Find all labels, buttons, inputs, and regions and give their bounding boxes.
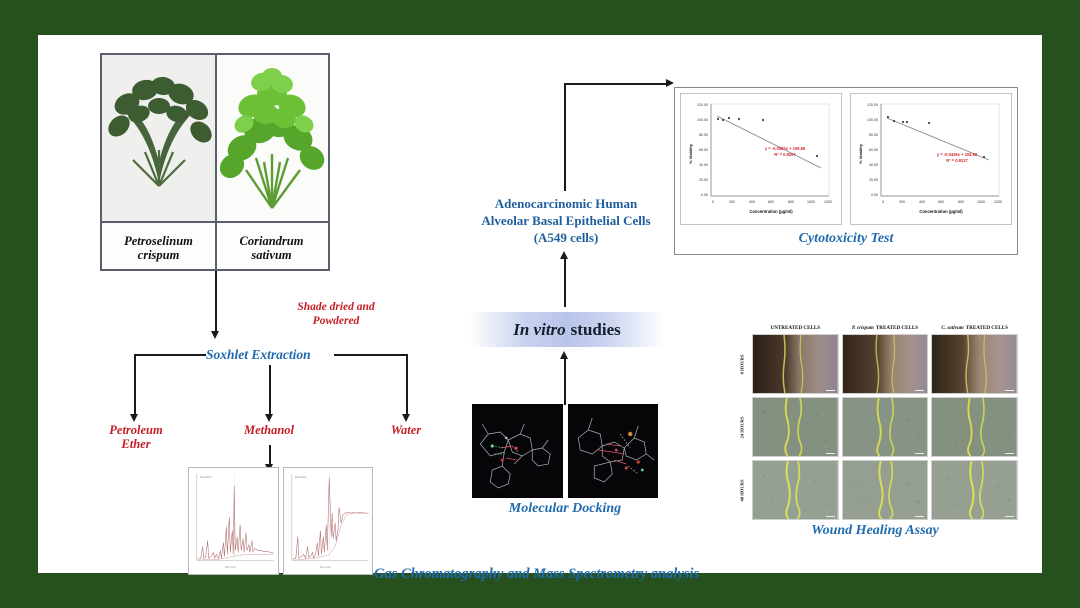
molecular-docking-panel — [472, 404, 658, 498]
docking-image-2 — [568, 404, 659, 498]
scalebar — [1005, 453, 1014, 454]
arrow-shaft-shade-dried — [215, 271, 217, 333]
scalebar — [915, 390, 924, 391]
chromatogram-1-trace: Abundance Time (min) — [189, 468, 278, 574]
svg-text:800: 800 — [958, 200, 964, 204]
coriander-illustration — [216, 62, 328, 214]
coriandrum-genus: Coriandrum — [240, 234, 304, 248]
arrowhead-water — [402, 414, 410, 422]
arrowhead-shade-dried — [211, 331, 219, 339]
petroselinum-species: crispum — [138, 248, 180, 262]
petroselinum-genus: Petroselinum — [124, 234, 193, 248]
svg-text:Abundance: Abundance — [200, 476, 213, 479]
scalebar — [826, 516, 835, 517]
svg-text:60.00: 60.00 — [699, 148, 708, 152]
arrowhead-methanol — [265, 414, 273, 422]
scalebar — [826, 453, 835, 454]
label-solvent-water: Water — [364, 423, 448, 437]
wound-healing-panel: UNTREATED CELLS P. crispum TREATED CELLS… — [732, 321, 1018, 541]
wh-rowlabel-0h: 0 HOURS — [732, 334, 752, 394]
wh-cell-24h-csativum — [931, 397, 1018, 457]
docking-structure-1 — [472, 404, 563, 498]
cytotoxicity-chart-petroselinum: 120.00 100.00 80.00 60.00 40.00 20.00 0.… — [680, 93, 842, 225]
plant-name-petroselinum: Petroselinum crispum — [102, 223, 215, 273]
wh-rowlabel-48h: 48 HOURS — [732, 460, 752, 520]
svg-text:1200: 1200 — [994, 200, 1002, 204]
scalebar — [915, 453, 924, 454]
scalebar — [1005, 390, 1014, 391]
svg-text:% Viability: % Viability — [858, 143, 863, 164]
svg-text:800: 800 — [788, 200, 794, 204]
svg-text:Concentration (µg/ml): Concentration (µg/ml) — [919, 209, 963, 214]
soxhlet-branch-right — [334, 354, 406, 356]
parsley-illustration — [105, 66, 213, 216]
label-shade-dried: Shade dried and Powdered — [276, 301, 396, 328]
arrowhead-to-cytotoxicity — [666, 79, 674, 87]
in-vitro-italic: In vitro — [513, 320, 565, 340]
chromatogram-2-trace: Abundance Time (min) — [284, 468, 373, 574]
docking-image-1 — [472, 404, 563, 498]
petroleum-line2: Ether — [121, 437, 150, 451]
svg-text:80.00: 80.00 — [699, 133, 708, 137]
arrow-shaft-docking-to-invitro — [564, 357, 566, 405]
svg-text:1000: 1000 — [977, 200, 985, 204]
svg-text:Abundance: Abundance — [294, 476, 307, 479]
svg-text:Concentration (µg/ml): Concentration (µg/ml) — [749, 209, 793, 214]
plant-name-coriandrum: Coriandrum sativum — [215, 223, 328, 273]
caption-gcms: Gas Chromatography and Mass Spectrometry… — [374, 566, 699, 583]
banner-in-vitro-studies: In vitro studies — [470, 312, 664, 347]
a549-line2: Alveolar Basal Epithelial Cells — [481, 213, 650, 228]
petroselinum-photo — [102, 55, 215, 221]
cyto-eqn-1: y = -0.0392x + 109.66 — [765, 146, 806, 151]
plant-source-box: Petroselinum crispum Coriandrum sativum — [100, 53, 330, 271]
wh-cell-48h-csativum — [931, 460, 1018, 520]
a549-line1: Adenocarcinomic Human — [495, 196, 637, 211]
wh-cell-0h-csativum — [931, 334, 1018, 394]
scalebar — [915, 516, 924, 517]
svg-text:400: 400 — [749, 200, 755, 204]
caption-molecular-docking: Molecular Docking — [472, 501, 658, 517]
wh-header-csativum-italic: C. sativum — [941, 325, 963, 331]
coriandrum-species: sativum — [251, 248, 291, 262]
methanol-line1: Methanol — [244, 423, 294, 437]
wh-header-untreated-label: UNTREATED CELLS — [771, 325, 821, 331]
svg-text:40.00: 40.00 — [699, 163, 708, 167]
svg-text:60.00: 60.00 — [869, 148, 878, 152]
cyto-r2-1: R² = 0.8297 — [774, 152, 796, 157]
wh-header-csativum: C. sativum TREATED CELLS — [931, 321, 1018, 334]
branch-shaft-petroleum — [134, 354, 136, 416]
svg-text:20.00: 20.00 — [699, 178, 708, 182]
wh-cell-0h-untreated — [752, 334, 839, 394]
wh-header-pcrispum-italic: P. crispum — [852, 325, 874, 331]
label-solvent-methanol: Methanol — [227, 423, 311, 437]
svg-text:100.00: 100.00 — [697, 118, 708, 122]
cyto-r2-2: R² = 0.9127 — [946, 158, 968, 163]
cytotoxicity-panel: 120.00 100.00 80.00 60.00 40.00 20.00 0.… — [674, 87, 1018, 255]
svg-text:Time (min): Time (min) — [319, 567, 330, 569]
wh-header-pcrispum: P. crispum TREATED CELLS — [842, 321, 929, 334]
wh-header-untreated: UNTREATED CELLS — [752, 321, 839, 334]
svg-text:% Viability: % Viability — [688, 143, 693, 164]
graphical-abstract-canvas: Petroselinum crispum Coriandrum sativum … — [38, 35, 1042, 573]
cytotoxicity-plot-2: 120.00 100.00 80.00 60.00 40.00 20.00 0.… — [851, 94, 1011, 224]
wh-cell-24h-untreated — [752, 397, 839, 457]
svg-text:40.00: 40.00 — [869, 163, 878, 167]
wound-healing-row-labels: 0 HOURS 24 HOURS 48 HOURS — [732, 334, 752, 520]
plant-name-divider — [215, 55, 217, 269]
scalebar — [1005, 516, 1014, 517]
chromatogram-2: Abundance Time (min) — [283, 467, 374, 575]
svg-text:0: 0 — [882, 200, 884, 204]
wh-cell-48h-pcrispum — [842, 460, 929, 520]
caption-cytotoxicity-test: Cytotoxicity Test — [680, 225, 1012, 253]
svg-text:0.00: 0.00 — [871, 193, 878, 197]
soxhlet-branch-left — [134, 354, 206, 356]
label-soxhlet-extraction: Soxhlet Extraction — [206, 347, 311, 363]
svg-text:600: 600 — [768, 200, 774, 204]
cytotoxicity-charts: 120.00 100.00 80.00 60.00 40.00 20.00 0.… — [680, 93, 1012, 225]
svg-text:600: 600 — [938, 200, 944, 204]
in-vitro-rest: studies — [571, 320, 621, 340]
branch-shaft-methanol — [269, 365, 271, 416]
svg-text:200: 200 — [729, 200, 735, 204]
wound-healing-column-headers: UNTREATED CELLS P. crispum TREATED CELLS… — [752, 321, 1018, 334]
caption-wound-healing-assay: Wound Healing Assay — [732, 523, 1018, 539]
svg-text:1200: 1200 — [824, 200, 832, 204]
svg-text:0.00: 0.00 — [701, 193, 708, 197]
arrowhead-invitro-to-cells — [560, 251, 568, 259]
svg-text:200: 200 — [899, 200, 905, 204]
wh-cell-24h-pcrispum — [842, 397, 929, 457]
water-line1: Water — [391, 423, 421, 437]
docking-structure-2 — [568, 404, 659, 498]
wound-healing-grid — [752, 334, 1018, 520]
svg-text:100.00: 100.00 — [867, 118, 878, 122]
label-solvent-petroleum-ether: Petroleum Ether — [94, 423, 178, 452]
svg-text:400: 400 — [919, 200, 925, 204]
arrow-shaft-cells-up — [564, 83, 566, 191]
wh-header-pcrispum-label: TREATED CELLS — [876, 325, 918, 331]
shade-dried-line1: Shade dried and — [297, 301, 374, 313]
coriandrum-photo — [215, 55, 328, 221]
cyto-eqn-2: y = -0.0426x + 104.92 — [937, 152, 978, 157]
plant-name-row: Petroselinum crispum Coriandrum sativum — [102, 221, 328, 273]
svg-text:1000: 1000 — [807, 200, 815, 204]
cytotoxicity-chart-coriandrum: 120.00 100.00 80.00 60.00 40.00 20.00 0.… — [850, 93, 1012, 225]
shade-dried-line2: Powdered — [313, 315, 360, 327]
arrow-shaft-invitro-to-cells — [564, 257, 566, 307]
branch-shaft-water — [406, 354, 408, 416]
svg-text:0: 0 — [712, 200, 714, 204]
wound-healing-body: 0 HOURS 24 HOURS 48 HOURS — [732, 334, 1018, 520]
chromatogram-1: Abundance Time (min) — [188, 467, 279, 575]
svg-text:80.00: 80.00 — [869, 133, 878, 137]
label-a549-cells: Adenocarcinomic Human Alveolar Basal Epi… — [458, 195, 674, 246]
arrowhead-docking-to-invitro — [560, 351, 568, 359]
a549-line3: (A549 cells) — [534, 230, 599, 245]
arrowhead-petroleum — [130, 414, 138, 422]
cytotoxicity-plot-1: 120.00 100.00 80.00 60.00 40.00 20.00 0.… — [681, 94, 841, 224]
gcms-chromatogram-panel: Abundance Time (min) Abundance Time (min… — [188, 467, 373, 575]
svg-text:Time (min): Time (min) — [224, 567, 235, 569]
petroleum-line1: Petroleum — [109, 423, 162, 437]
wh-header-csativum-label: TREATED CELLS — [966, 325, 1008, 331]
svg-text:120.00: 120.00 — [697, 103, 708, 107]
wh-rowlabel-24h: 24 HOURS — [732, 397, 752, 457]
svg-text:120.00: 120.00 — [867, 103, 878, 107]
wh-cell-0h-pcrispum — [842, 334, 929, 394]
wh-cell-48h-untreated — [752, 460, 839, 520]
arrow-shaft-cells-right — [564, 83, 668, 85]
scalebar — [826, 390, 835, 391]
svg-text:20.00: 20.00 — [869, 178, 878, 182]
